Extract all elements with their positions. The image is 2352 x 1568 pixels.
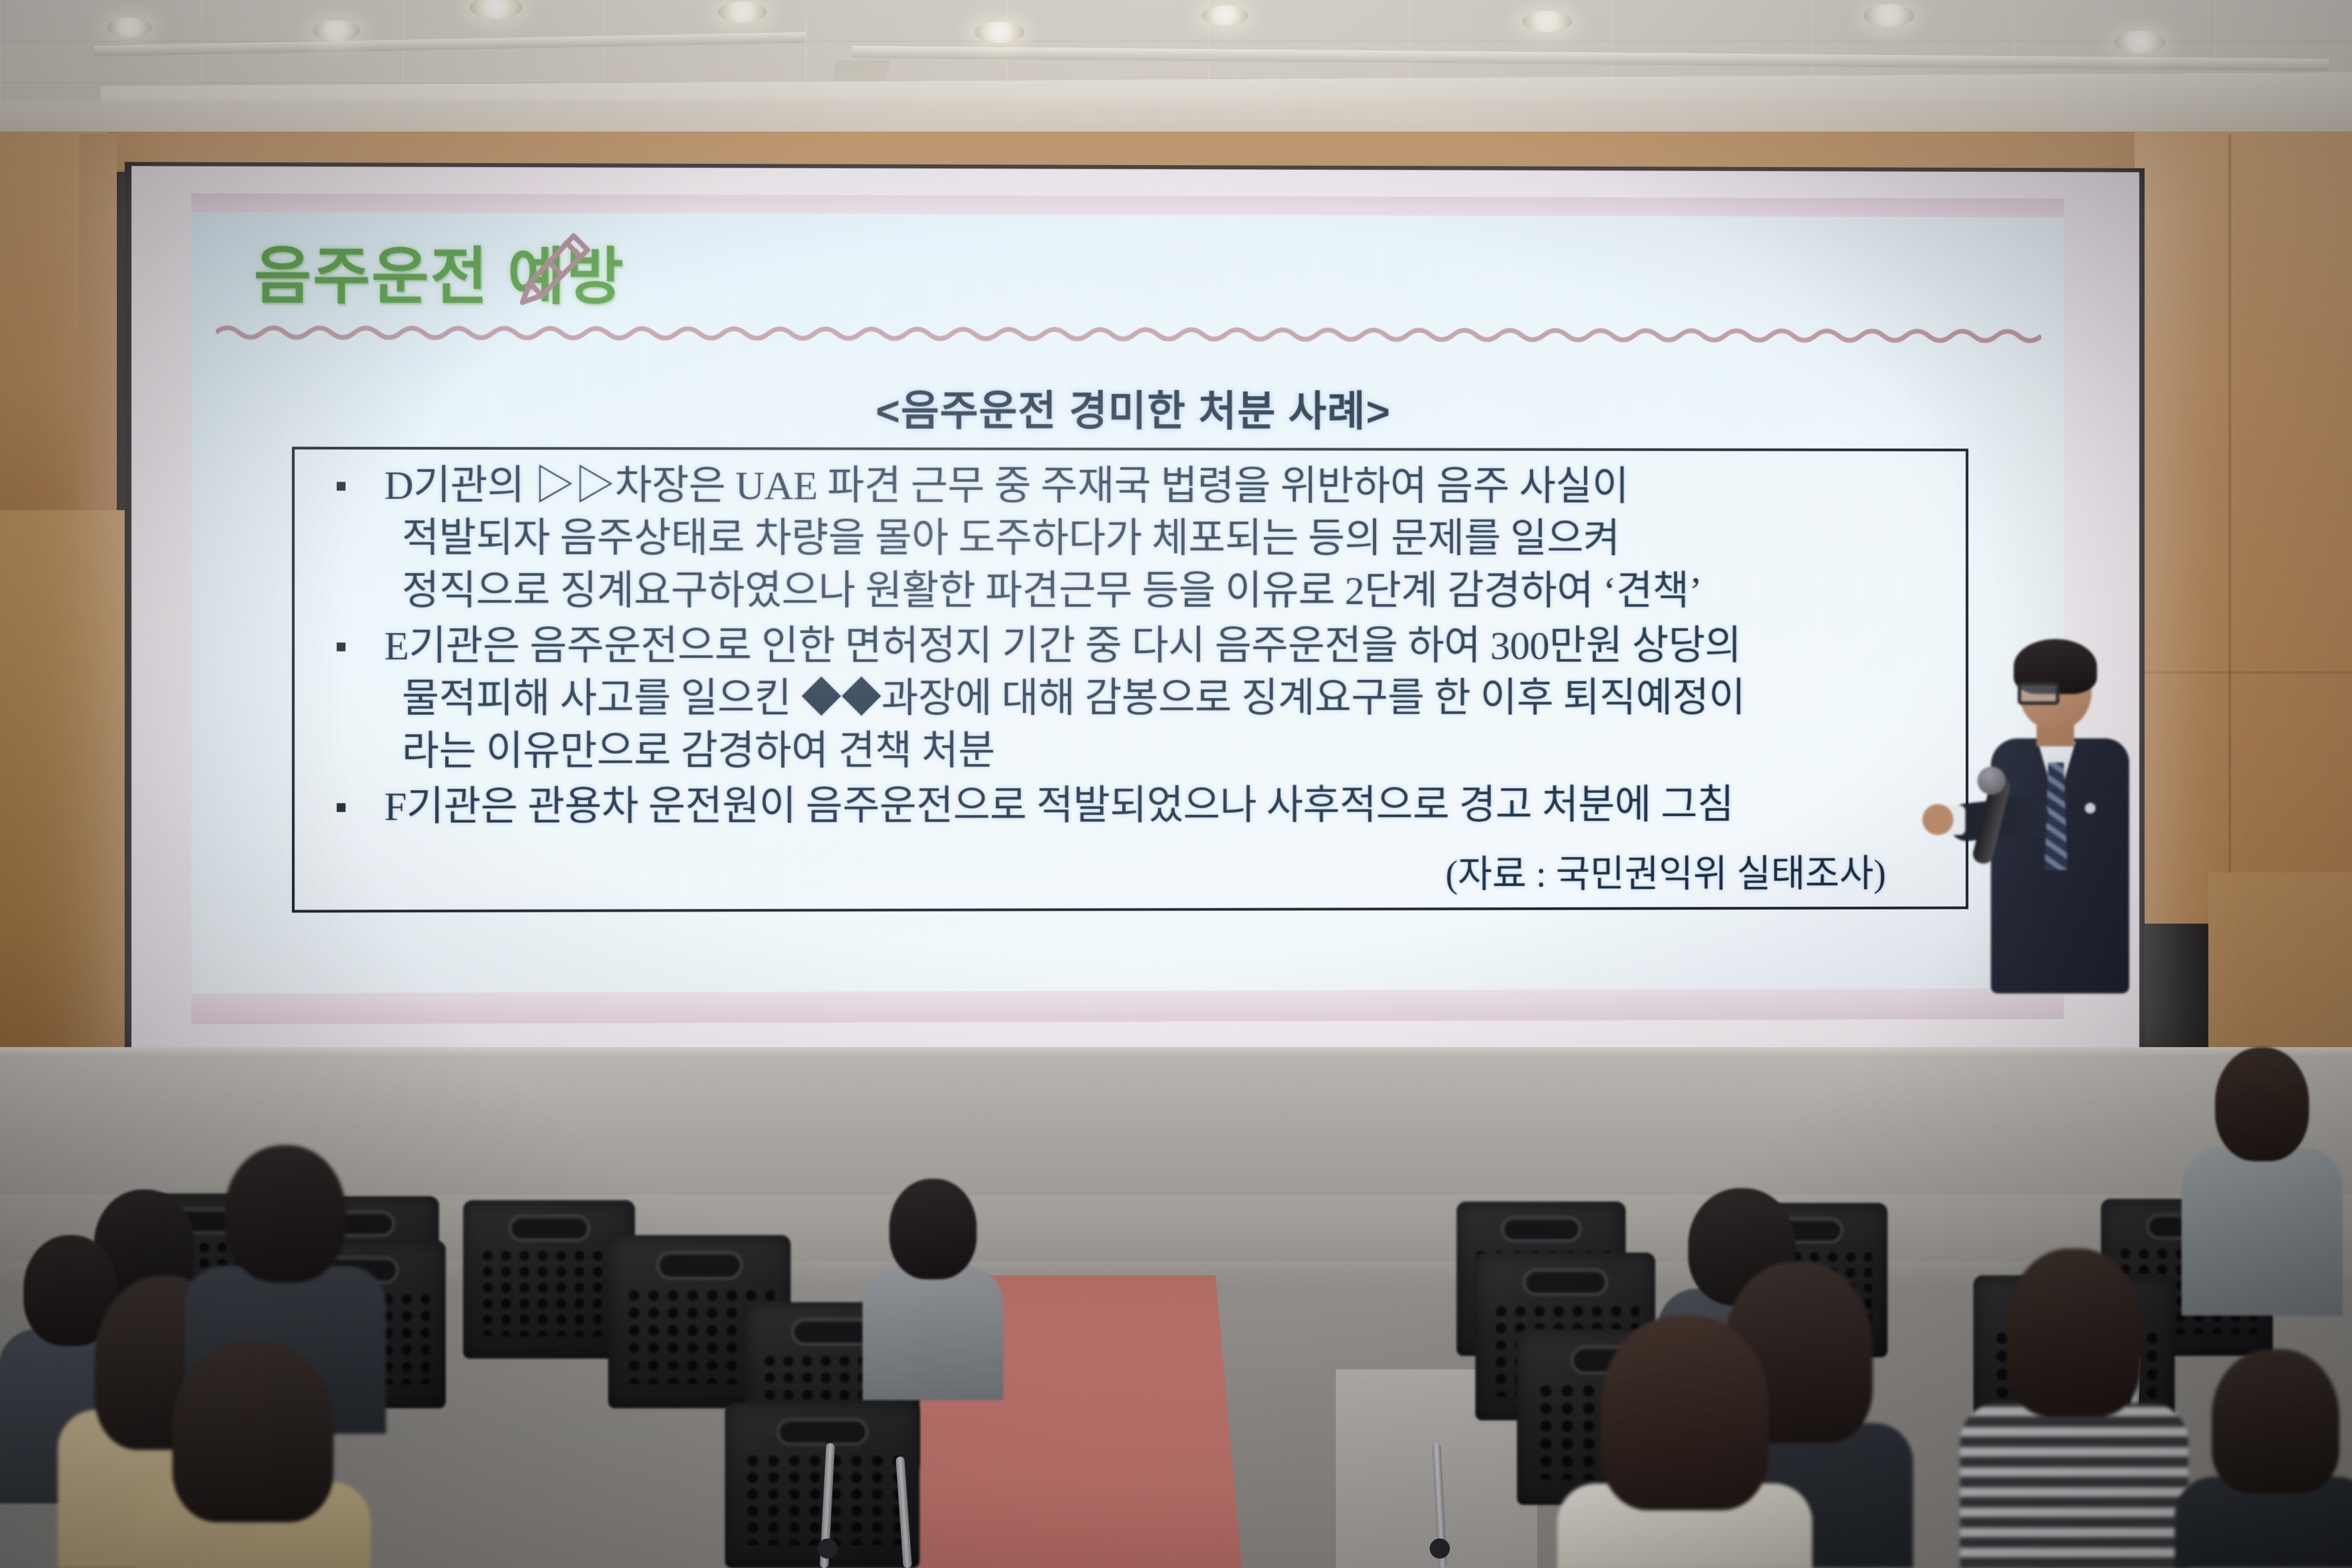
downlight-icon (1522, 11, 1572, 32)
chair-caster (818, 1538, 838, 1559)
audience-member (2195, 1047, 2329, 1316)
audience-member (2188, 1349, 2352, 1568)
chair-caster (1430, 1538, 1450, 1559)
wall-lower-left (0, 510, 134, 1101)
downlight-icon (718, 1, 767, 23)
chair-handle-cutout (791, 1318, 874, 1346)
bullet-line: 적발되자 음주상태로 차량을 몰아 도주하다가 체포되는 등의 문제를 일으켜 (384, 511, 1965, 565)
bullet-dot-icon (337, 642, 346, 651)
audience-member (866, 1179, 1000, 1400)
bullet-line: 정직으로 징계요구하였으나 원활한 파견근무 등을 이유로 2단계 감경하여 ‘… (384, 565, 1965, 617)
slide-content-box: D기관의 ▷▷차장은 UAE 파견 근무 중 주재국 법령을 위반하여 음주 사… (292, 447, 1969, 913)
slide-source-note: (자료 : 국민권익위 실태조사) (1445, 843, 1886, 898)
chair-handle-cutout (776, 1418, 869, 1446)
bullet-line: D기관의 ▷▷차장은 UAE 파견 근무 중 주재국 법령을 위반하여 음주 사… (384, 459, 1965, 513)
bullet-line: 라는 이유만으로 감경하여 견책 처분 (384, 724, 1965, 777)
audience-member (1571, 1316, 1799, 1568)
list-item: E기관은 음주운전으로 인한 면허정지 기간 중 다시 음주운전을 하여 300… (295, 620, 1966, 778)
audience-member (142, 1341, 364, 1568)
chair-handle-cutout (656, 1251, 743, 1280)
slide-subtitle: <음주운전 경미한 처분 사례> (191, 376, 2064, 439)
person-head (2215, 1047, 2309, 1161)
downlight-icon (2114, 31, 2165, 54)
wall-right-seam-horizontal (2135, 671, 2352, 674)
bullet-line: 물적피해 사고를 일으킨 ◆◆과장에 대해 감봉으로 징계요구를 한 이후 퇴직… (384, 671, 1965, 724)
downlight-icon (313, 20, 360, 42)
slide-bottom-band (191, 988, 2064, 1024)
bullet-line: E기관은 음주운전으로 인한 면허정지 기간 중 다시 음주운전을 하여 300… (384, 620, 1965, 673)
person-head (889, 1179, 977, 1279)
presentation-slide: 음주운전 예방 <음주운전 경미한 처분 사례> (191, 193, 2064, 1024)
presenter (1967, 644, 2148, 993)
wavy-divider (216, 322, 2042, 344)
eyeglasses-icon (2018, 682, 2059, 705)
projection-screen: 음주운전 예방 <음주운전 경미한 처분 사례> (132, 166, 2139, 1057)
chair-handle-cutout (1522, 1268, 1608, 1297)
downlight-icon (107, 17, 152, 38)
lecture-hall-photo: 음주운전 예방 <음주운전 경미한 처분 사례> (0, 0, 2352, 1568)
presenter-hand (1922, 804, 1953, 835)
bullet-line: F기관은 관용차 운전원이 음주운전으로 적발되었으나 사후적으로 경고 처분에… (384, 779, 1965, 833)
bullet-list: D기관의 ▷▷차장은 UAE 파견 근무 중 주재국 법령을 위반하여 음주 사… (295, 459, 1966, 836)
downlight-icon (1863, 4, 1914, 27)
person-torso (863, 1266, 1003, 1400)
person-head (2212, 1349, 2339, 1493)
slide-top-band (191, 193, 2064, 217)
person-head (2007, 1248, 2141, 1416)
person-head (225, 1145, 346, 1283)
bullet-dot-icon (337, 803, 346, 812)
chair-handle-cutout (1501, 1216, 1582, 1242)
person-torso (2182, 1148, 2343, 1316)
chair-perforation (479, 1248, 620, 1336)
list-item: D기관의 ▷▷차장은 UAE 파견 근무 중 주재국 법령을 위반하여 음주 사… (295, 459, 1966, 617)
person-head (1601, 1316, 1769, 1510)
person-torso (1960, 1403, 2188, 1568)
lapel-pin-icon (2085, 803, 2096, 814)
wall-left-inner-panel (79, 134, 117, 537)
list-item: F기관은 관용차 운전원이 음주운전으로 적발되었으나 사후적으로 경고 처분에… (295, 779, 1966, 833)
wall-right-seam (2228, 134, 2231, 920)
audience-member (1973, 1248, 2175, 1568)
pencil-icon (510, 225, 598, 313)
downlight-icon (975, 21, 1024, 43)
person-head (173, 1341, 334, 1522)
wall-right-panel (2135, 132, 2352, 924)
downlight-icon (1202, 5, 1248, 26)
bullet-dot-icon (337, 482, 346, 491)
chair-handle-cutout (508, 1214, 591, 1242)
